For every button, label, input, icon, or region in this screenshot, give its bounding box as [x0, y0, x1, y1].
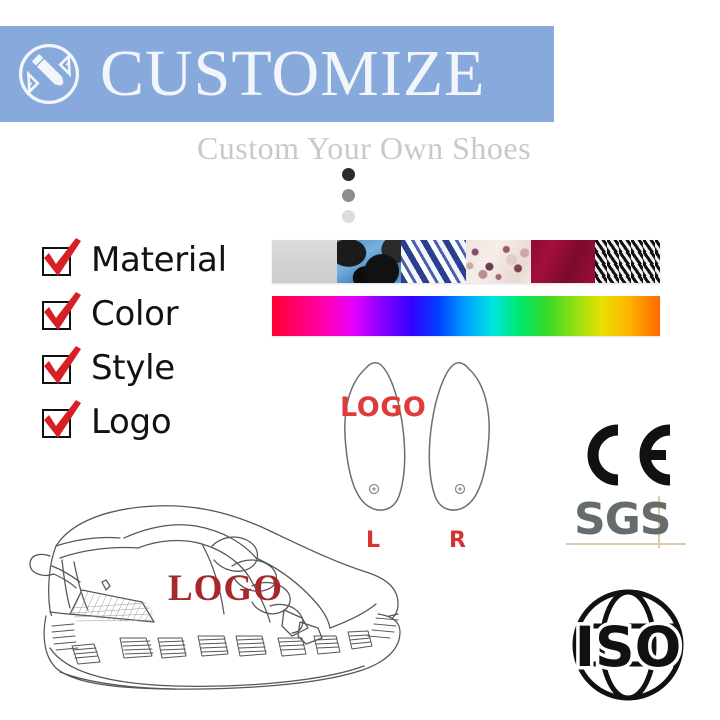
checklist-item-style[interactable]: Style — [40, 341, 255, 395]
insole-logo-text: LOGO — [340, 392, 426, 423]
banner-title: CUSTOMIZE — [100, 41, 485, 107]
checklist-label-material: Material — [91, 243, 227, 277]
customize-banner: CUSTOMIZE — [0, 26, 554, 122]
dot-indicator-2 — [342, 189, 355, 202]
check-icon — [36, 396, 84, 444]
dot-indicator-group — [336, 168, 360, 223]
checkbox-color[interactable] — [42, 298, 75, 331]
pencil-ruler-circle-icon — [16, 41, 82, 107]
poster-canvas: CUSTOMIZE Custom Your Own Shoes Material — [0, 0, 720, 720]
checkbox-style[interactable] — [42, 352, 75, 385]
insole-label-right: R — [449, 528, 466, 553]
dot-indicator-1 — [342, 168, 355, 181]
checkbox-logo[interactable] — [42, 406, 75, 439]
check-icon — [36, 342, 84, 390]
checklist-item-material[interactable]: Material — [40, 233, 255, 287]
swatch-light-gray-fabric[interactable] — [272, 240, 337, 283]
sgs-mark: SGS — [566, 496, 686, 552]
checklist-item-color[interactable]: Color — [40, 287, 255, 341]
customization-checklist: Material Color Style — [40, 233, 255, 449]
ce-mark-icon: CE — [578, 424, 676, 486]
swatch-floral-speckle[interactable] — [466, 240, 531, 283]
insole-right — [429, 363, 489, 510]
iso-mark-label: ISO — [575, 615, 682, 679]
subtitle: Custom Your Own Shoes — [0, 130, 720, 167]
iso-mark-icon: ISO — [552, 584, 704, 706]
swatch-black-white-herringbone[interactable] — [595, 240, 660, 283]
check-icon — [36, 234, 84, 282]
subtitle-text: Custom Your Own Shoes — [197, 130, 531, 167]
material-swatch-strip[interactable] — [272, 240, 660, 283]
dot-indicator-3 — [342, 210, 355, 223]
checklist-label-logo: Logo — [91, 405, 171, 439]
checklist-item-logo[interactable]: Logo — [40, 395, 255, 449]
swatch-blue-white-stripe[interactable] — [401, 240, 466, 283]
checklist-label-color: Color — [91, 297, 178, 331]
sgs-mark-label: SGS — [574, 494, 671, 545]
checklist-label-style: Style — [91, 351, 175, 385]
swatch-wine-red[interactable] — [531, 240, 596, 283]
ce-mark-label: CE — [578, 424, 600, 428]
color-spectrum-bar[interactable] — [272, 296, 660, 336]
swatch-blue-black-camo[interactable] — [337, 240, 402, 283]
checkbox-material[interactable] — [42, 244, 75, 277]
shoe-logo-text: LOGO — [168, 567, 283, 610]
check-icon — [36, 288, 84, 336]
